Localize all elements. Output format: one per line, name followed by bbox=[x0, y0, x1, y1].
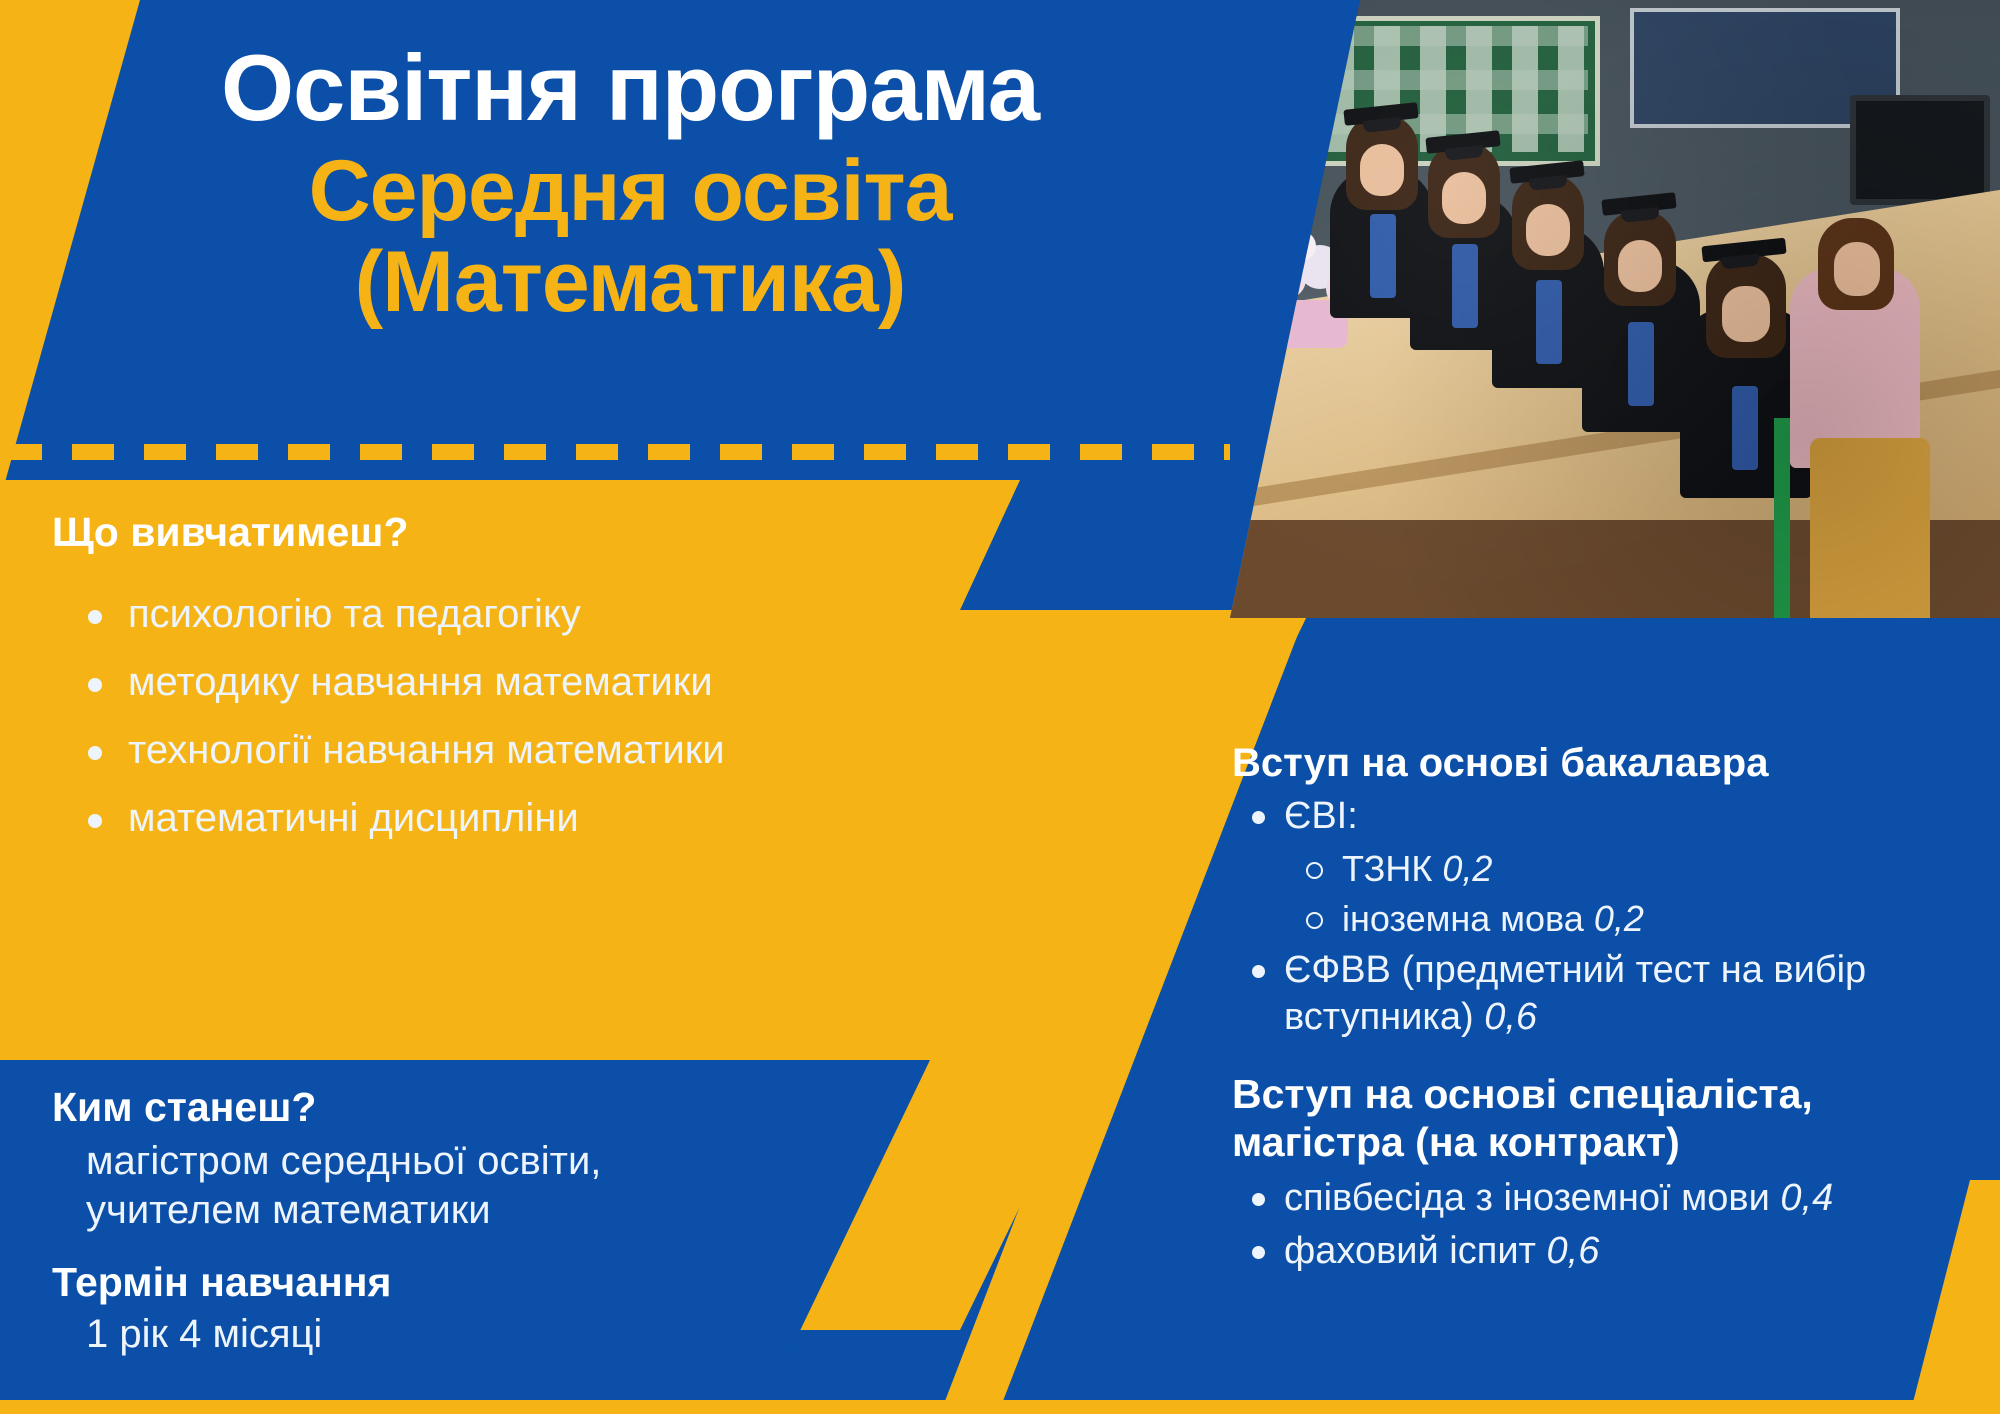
specialist-item-score: 0,6 bbox=[1547, 1230, 1600, 1272]
list-item: психологію та педагогіку bbox=[52, 590, 1102, 638]
evi-sublist: ТЗНК 0,2 іноземна мова 0,2 bbox=[1232, 846, 1972, 941]
become-heading: Ким станеш? bbox=[52, 1083, 882, 1131]
list-item: іноземна мова 0,2 bbox=[1232, 896, 1972, 941]
section-study-term: Термін навчання 1 рік 4 місяці bbox=[52, 1258, 882, 1359]
evi-item-label: ТЗНК bbox=[1342, 848, 1432, 889]
efvv-score: 0,6 bbox=[1484, 996, 1537, 1038]
list-item: ЄВІ: bbox=[1232, 793, 1972, 840]
specialist-item-score: 0,4 bbox=[1780, 1177, 1833, 1219]
evi-item-score: 0,2 bbox=[1594, 898, 1644, 939]
term-lines: 1 рік 4 місяці bbox=[52, 1310, 882, 1359]
program-name-line2: (Математика) bbox=[0, 237, 1240, 328]
efvv-label: ЄФВВ (предметний тест на вибір вступника… bbox=[1284, 949, 1866, 1038]
admission-bachelor-list: ЄВІ: bbox=[1232, 793, 1972, 840]
admission-bachelor-heading: Вступ на основі бакалавра bbox=[1232, 740, 1972, 787]
study-heading: Що вивчатимеш? bbox=[52, 508, 1102, 556]
page-title: Освітня програма bbox=[0, 40, 1240, 136]
list-item: методику навчання математики bbox=[52, 658, 1102, 706]
become-line-2: учителем математики bbox=[86, 1186, 882, 1235]
list-item: фаховий іспит 0,6 bbox=[1232, 1228, 1992, 1275]
list-item: ТЗНК 0,2 bbox=[1232, 846, 1972, 891]
specialist-item-label: співбесіда з іноземної мови bbox=[1284, 1177, 1770, 1219]
admission-specialist-heading-line2: магістра (на контракт) bbox=[1232, 1118, 1992, 1166]
admission-specialist-list: співбесіда з іноземної мови 0,4 фаховий … bbox=[1232, 1175, 1992, 1275]
admission-specialist-heading-line1: Вступ на основі спеціаліста, bbox=[1232, 1070, 1992, 1118]
become-lines: магістром середньої освіти, учителем мат… bbox=[52, 1137, 882, 1235]
list-item: ЄФВВ (предметний тест на вибір вступника… bbox=[1232, 947, 1972, 1041]
section-what-you-study: Що вивчатимеш? психологію та педагогіку … bbox=[52, 508, 1102, 862]
term-heading: Термін навчання bbox=[52, 1258, 882, 1306]
list-item: математичні дисципліни bbox=[52, 794, 1102, 842]
term-value: 1 рік 4 місяці bbox=[86, 1310, 882, 1359]
program-name-line1: Середня освіта bbox=[0, 146, 1240, 237]
evi-item-label: іноземна мова bbox=[1342, 898, 1584, 939]
list-item: співбесіда з іноземної мови 0,4 bbox=[1232, 1175, 1992, 1222]
section-admission-bachelor: Вступ на основі бакалавра ЄВІ: ТЗНК 0,2 … bbox=[1232, 740, 1972, 1045]
list-item: технології навчання математики bbox=[52, 726, 1102, 774]
evi-label: ЄВІ: bbox=[1284, 795, 1358, 837]
become-line-1: магістром середньої освіти, bbox=[86, 1137, 882, 1186]
section-admission-specialist: Вступ на основі спеціаліста, магістра (н… bbox=[1232, 1070, 1992, 1281]
specialist-item-label: фаховий іспит bbox=[1284, 1230, 1536, 1272]
section-who-you-become: Ким станеш? магістром середньої освіти, … bbox=[52, 1083, 882, 1235]
study-list: психологію та педагогіку методику навчан… bbox=[52, 590, 1102, 842]
efvv-list: ЄФВВ (предметний тест на вибір вступника… bbox=[1232, 947, 1972, 1041]
evi-item-score: 0,2 bbox=[1442, 848, 1492, 889]
poster-title-block: Освітня програма Середня освіта (Математ… bbox=[0, 40, 1240, 328]
